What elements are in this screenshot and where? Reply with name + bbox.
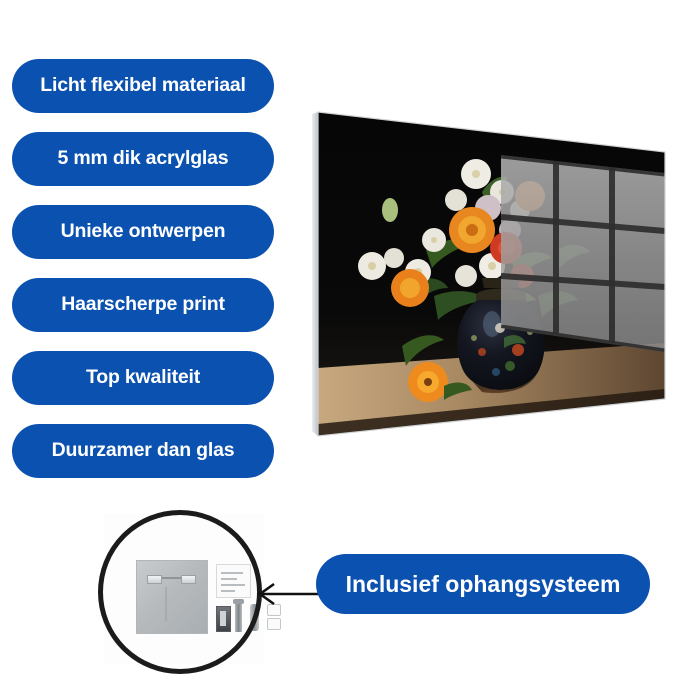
- spacer-pad: [267, 618, 281, 630]
- panel-artwork: [306, 100, 686, 445]
- artwork-scene: [306, 100, 686, 445]
- window-reflection: [501, 155, 665, 352]
- feature-pill-label: Haarscherpe print: [61, 295, 225, 315]
- feature-pill-5-mm-dik-acrylglas[interactable]: 5 mm dik acrylglas: [12, 132, 274, 186]
- acrylic-glass-panel[interactable]: [306, 100, 686, 445]
- flower-bud: [382, 198, 398, 222]
- feature-pill-unieke-ontwerpen[interactable]: Unieke ontwerpen: [12, 205, 274, 259]
- feature-pill-top-kwaliteit[interactable]: Top kwaliteit: [12, 351, 274, 405]
- callout-label: Inclusief ophangsysteem: [346, 573, 621, 596]
- circle-outline: [98, 510, 262, 674]
- panel-edge-left: [312, 112, 318, 436]
- feature-pill-list: Licht flexibel materiaal 5 mm dik acrylg…: [12, 59, 274, 497]
- feature-pill-label: 5 mm dik acrylglas: [58, 149, 229, 169]
- product-feature-infographic: Licht flexibel materiaal 5 mm dik acrylg…: [0, 0, 700, 700]
- feature-pill-duurzamer-dan-glas[interactable]: Duurzamer dan glas: [12, 424, 274, 478]
- feature-pill-licht-flexibel-materiaal[interactable]: Licht flexibel materiaal: [12, 59, 274, 113]
- callout-pill-inclusief-ophangsysteem[interactable]: Inclusief ophangsysteem: [316, 554, 650, 614]
- feature-pill-haarscherpe-print[interactable]: Haarscherpe print: [12, 278, 274, 332]
- feature-pill-label: Unieke ontwerpen: [61, 222, 226, 242]
- feature-pill-label: Licht flexibel materiaal: [40, 76, 245, 96]
- feature-pill-label: Top kwaliteit: [86, 368, 200, 388]
- feature-pill-label: Duurzamer dan glas: [52, 441, 235, 461]
- callout-arrow-icon: [248, 575, 324, 615]
